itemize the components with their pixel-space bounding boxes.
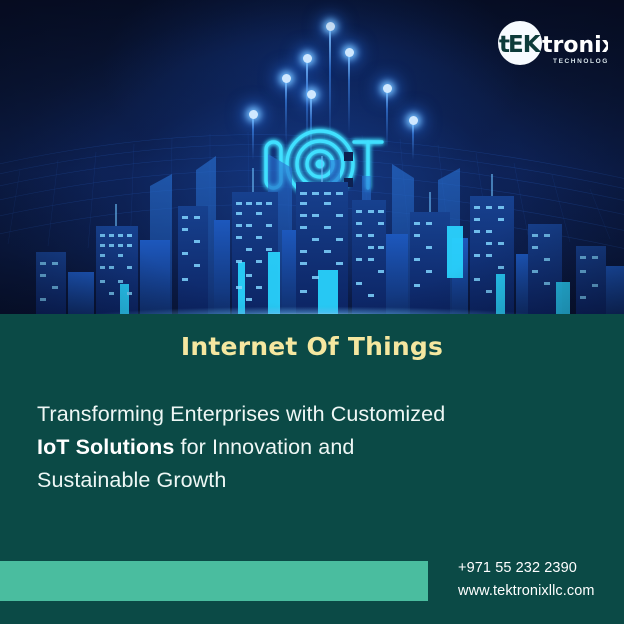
body-copy-pre: Transforming Enterprises with Customized (37, 402, 445, 426)
body-copy-highlight: IoT Solutions (37, 435, 174, 459)
poster: t EK tronix TECHNOLOGIES Internet Of Thi… (0, 0, 624, 624)
phone-number[interactable]: +971 55 232 2390 (458, 557, 624, 580)
logo-tagline: TECHNOLOGIES (553, 58, 608, 65)
page-title: Internet Of Things (0, 332, 624, 361)
logo-brand-rest: tronix (542, 33, 608, 58)
contact-block: +971 55 232 2390 www.tektronixllc.com (458, 557, 624, 603)
website-url[interactable]: www.tektronixllc.com (458, 580, 624, 603)
body-copy: Transforming Enterprises with Customized… (37, 398, 467, 497)
brand-logo[interactable]: t EK tronix TECHNOLOGIES (490, 18, 608, 72)
hero-image: t EK tronix TECHNOLOGIES (0, 0, 624, 314)
logo-brand-mid: EK (508, 32, 542, 58)
footer-accent-bar (0, 561, 428, 601)
